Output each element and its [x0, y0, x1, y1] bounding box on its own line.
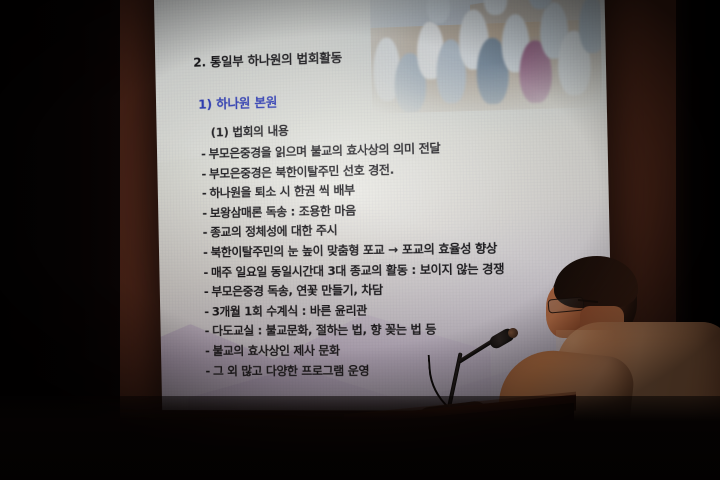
photo-scene: 2. 통일부 하나원의 법회활동 1) 하나원 본원 (1) 법회의 내용 -부… [0, 0, 720, 480]
scene-vignette [0, 0, 720, 480]
